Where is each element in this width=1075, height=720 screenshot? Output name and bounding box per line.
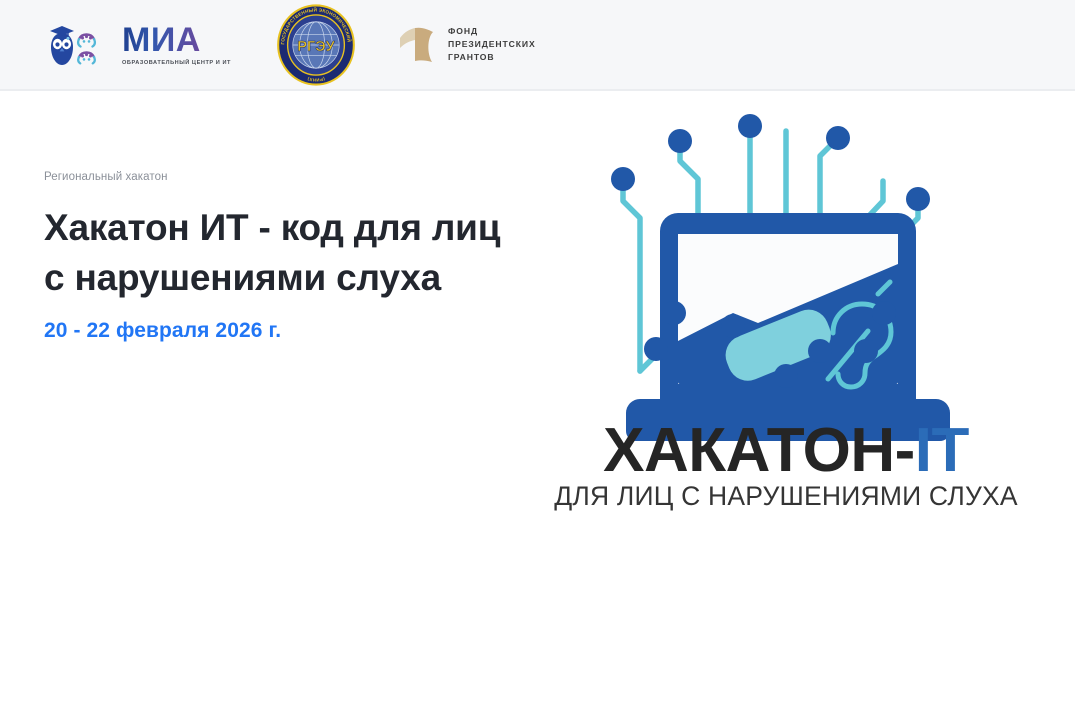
logo-wordmark-accent: IT — [915, 416, 970, 485]
event-date: 20 - 22 февраля 2026 г. — [44, 319, 514, 343]
hackathon-logo-graphic: ХАКАТОН-IT ДЛЯ ЛИЦ С НАРУШЕНИЯМИ СЛУХА — [528, 101, 1048, 521]
hero-copy: Региональный хакатон Хакатон ИТ - код дл… — [44, 171, 514, 343]
grants-line-3: ГРАНТОВ — [448, 52, 495, 62]
mia-wordmark: МИА — [122, 23, 201, 57]
hero-section: Региональный хакатон Хакатон ИТ - код дл… — [0, 91, 1075, 720]
grants-line-2: ПРЕЗИДЕНТСКИХ — [448, 39, 536, 49]
partner-logos: МИА ОБРАЗОВАТЕЛЬНЫЙ ЦЕНТР И ИТ РГЭУ — [44, 0, 536, 89]
logo-subtitle: ДЛЯ ЛИЦ С НАРУШЕНИЯМИ СЛУХА — [554, 481, 1018, 511]
svg-text:РГЭУ: РГЭУ — [297, 39, 335, 55]
presidential-grants-text: ФОНДПРЕЗИДЕНТСКИХГРАНТОВ — [448, 25, 536, 64]
presidential-grants-logo[interactable]: ФОНДПРЕЗИДЕНТСКИХГРАНТОВ — [397, 25, 536, 65]
logo-wordmark: ХАКАТОН-IT — [603, 416, 969, 485]
grants-line-1: ФОНД — [448, 26, 478, 36]
owl-graduate-icon — [44, 19, 116, 71]
rgeu-seal-logo[interactable]: РГЭУ РОСТОВСКИЙ ГОСУДАРСТВЕННЫЙ ЭКОНОМИЧ… — [273, 2, 359, 88]
hero-eyebrow: Региональный хакатон — [44, 171, 514, 183]
mia-logo[interactable]: МИА ОБРАЗОВАТЕЛЬНЫЙ ЦЕНТР И ИТ — [44, 19, 231, 71]
mia-tagline: ОБРАЗОВАТЕЛЬНЫЙ ЦЕНТР И ИТ — [122, 60, 231, 66]
page-title: Хакатон ИТ - код для лиц с нарушениями с… — [44, 203, 514, 303]
site-header: МИА ОБРАЗОВАТЕЛЬНЫЙ ЦЕНТР И ИТ РГЭУ — [0, 0, 1075, 91]
logo-wordmark-dark: ХАКАТОН- — [603, 416, 915, 485]
hackathon-it-logo: ХАКАТОН-IT ДЛЯ ЛИЦ С НАРУШЕНИЯМИ СЛУХА — [528, 101, 1048, 521]
ribbon-mark-icon — [397, 25, 437, 65]
